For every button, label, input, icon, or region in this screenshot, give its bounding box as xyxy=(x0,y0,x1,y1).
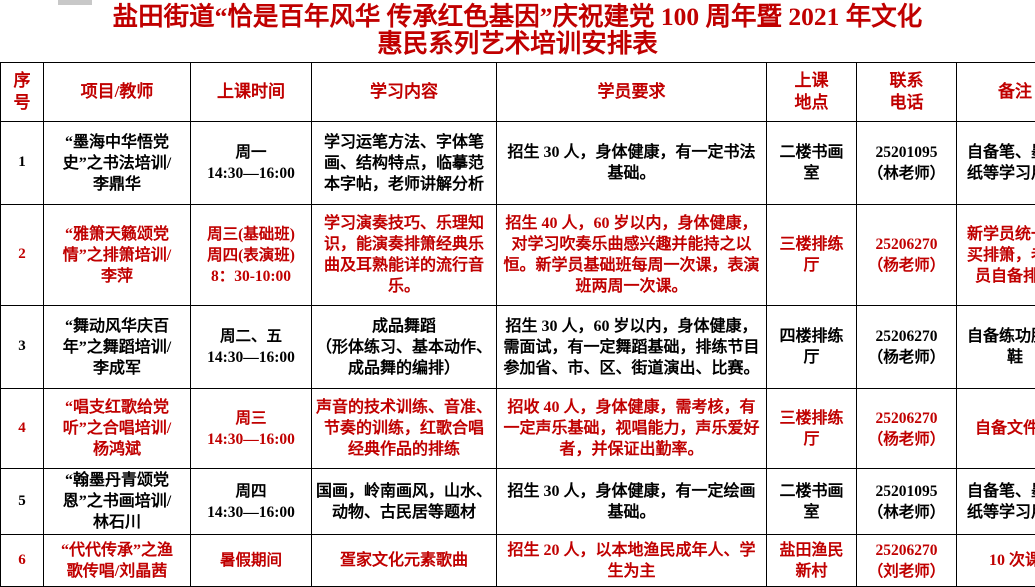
cell-requirement-line-3: 参加省、市、区、街道演出、比赛。 xyxy=(499,358,764,379)
cell-project-line-3: 李鼎华 xyxy=(46,174,188,195)
cell-phone-line-2: （杨老师） xyxy=(859,429,954,450)
cell-phone-line-1: 25206270 xyxy=(859,540,954,561)
cell-time-line-1: 暑假期间 xyxy=(193,550,309,571)
table-header-row: 序 号 项目/教师 上课时间 学习内容 学员要求 上课 地点 联系 电话 备注 xyxy=(1,63,1035,122)
cell-content: 声音的技术训练、音准、 节奏的训练，红歌合唱 经典作品的排练 xyxy=(312,389,497,469)
cell-content: 疍家文化元素歌曲 xyxy=(312,535,497,587)
cell-requirement-line-1: 招生 20 人，以本地渔民成年人、学 xyxy=(499,540,764,561)
column-header-place: 上课 地点 xyxy=(767,63,857,122)
cell-phone: 25201095 （林老师） xyxy=(857,122,957,205)
column-header-time: 上课时间 xyxy=(191,63,312,122)
table-row: 3 “舞动风华庆百 年”之舞蹈培训/ 李成军 周二、五 14:30—16:00 … xyxy=(1,306,1035,389)
cell-note-line-2: 买排箫，老学 xyxy=(959,245,1035,266)
cell-requirement: 招生 20 人，以本地渔民成年人、学 生为主 xyxy=(497,535,767,587)
column-header-requirement: 学员要求 xyxy=(497,63,767,122)
cell-time: 周四 14:30—16:00 xyxy=(191,469,312,535)
cell-place: 二楼书画 室 xyxy=(767,122,857,205)
table-row: 5 “翰墨丹青颂党 恩”之书画培训/ 林石川 周四 14:30—16:00 国画… xyxy=(1,469,1035,535)
cell-content-line-1: 国画，岭南画风，山水、 xyxy=(314,481,494,502)
document-page: 盐田街道“恰是百年风华 传承红色基因”庆祝建党 100 周年暨 2021 年文化… xyxy=(0,0,1035,586)
cell-content-line-1: 成品舞蹈 xyxy=(314,316,494,337)
cell-phone-line-1: 25201095 xyxy=(859,481,954,502)
cell-project: “舞动风华庆百 年”之舞蹈培训/ 李成军 xyxy=(44,306,191,389)
cell-content-line-3: 成品舞的编排） xyxy=(314,358,494,379)
cell-time-line-2: 14:30—16:00 xyxy=(193,429,309,450)
cell-phone-line-1: 25206270 xyxy=(859,234,954,255)
cell-content: 成品舞蹈 （形体练习、基本动作、 成品舞的编排） xyxy=(312,306,497,389)
cell-content-line-3: 经典作品的排练 xyxy=(314,439,494,460)
column-header-note: 备注 xyxy=(957,63,1035,122)
cell-time: 周一 14:30—16:00 xyxy=(191,122,312,205)
cell-place-line-2: 室 xyxy=(769,163,854,184)
cell-project-line-2: 歌传唱/刘晶茜 xyxy=(46,561,188,582)
cell-note-line-2: 鞋 xyxy=(959,347,1035,368)
page-title-line-1: 盐田街道“恰是百年风华 传承红色基因”庆祝建党 100 周年暨 2021 年文化 xyxy=(113,2,923,31)
cell-content-line-1: 疍家文化元素歌曲 xyxy=(314,550,494,571)
selection-mark xyxy=(58,0,92,5)
column-header-place-line-1: 上课 xyxy=(769,70,854,92)
column-header-phone-line-2: 电话 xyxy=(859,92,954,114)
cell-project-line-1: “唱支红歌给党 xyxy=(46,397,188,418)
cell-phone-line-1: 25206270 xyxy=(859,408,954,429)
training-schedule-table: 序 号 项目/教师 上课时间 学习内容 学员要求 上课 地点 联系 电话 备注 xyxy=(0,62,1035,587)
cell-time-line-2: 14:30—16:00 xyxy=(193,502,309,523)
cell-requirement-line-1: 招生 30 人，身体健康，有一定书法 xyxy=(499,142,764,163)
cell-phone-line-2: （杨老师） xyxy=(859,347,954,368)
cell-phone-line-1: 25206270 xyxy=(859,326,954,347)
cell-note-line-1: 自备笔、墨、 xyxy=(959,142,1035,163)
cell-note-line-1: 10 次课 xyxy=(959,550,1035,571)
cell-phone: 25206270 （杨老师） xyxy=(857,389,957,469)
cell-requirement-line-2: 对学习吹奏乐曲感兴趣并能持之以 xyxy=(499,234,764,255)
cell-requirement-line-3: 恒。新学员基础班每周一次课，表演 xyxy=(499,255,764,276)
cell-note: 10 次课 xyxy=(957,535,1035,587)
cell-requirement-line-1: 招收 40 人，身体健康，需考核，有 xyxy=(499,397,764,418)
column-header-index-line-2: 号 xyxy=(3,92,41,114)
cell-time-line-1: 周三 xyxy=(193,408,309,429)
cell-project-line-2: 听”之合唱培训/ xyxy=(46,418,188,439)
cell-content: 学习运笔方法、字体笔 画、结构特点，临摹范 本字帖，老师讲解分析 xyxy=(312,122,497,205)
cell-index: 6 xyxy=(1,535,44,587)
cell-note-line-3: 员自备排箫 xyxy=(959,266,1035,287)
cell-phone-line-2: （刘老师） xyxy=(859,561,954,582)
cell-project-line-1: “雅箫天籁颂党 xyxy=(46,224,188,245)
cell-requirement-line-1: 招生 40 人，60 岁以内，身体健康， xyxy=(499,213,764,234)
cell-note: 自备笔、墨、 纸等学习用具 xyxy=(957,469,1035,535)
cell-place-line-2: 新村 xyxy=(769,561,854,582)
column-header-project: 项目/教师 xyxy=(44,63,191,122)
cell-requirement: 招收 40 人，身体健康，需考核，有 一定声乐基础，视唱能力，声乐爱好 者，并保… xyxy=(497,389,767,469)
cell-project-line-1: “代代传承”之渔 xyxy=(46,540,188,561)
cell-project: “代代传承”之渔 歌传唱/刘晶茜 xyxy=(44,535,191,587)
cell-project-line-1: “舞动风华庆百 xyxy=(46,316,188,337)
cell-note-line-1: 自备练功服、 xyxy=(959,326,1035,347)
cell-requirement-line-1: 招生 30 人，60 岁以内，身体健康， xyxy=(499,316,764,337)
cell-content-line-3: 本字帖，老师讲解分析 xyxy=(314,174,494,195)
cell-place-line-1: 四楼排练 xyxy=(769,326,854,347)
cell-note: 自备练功服、 鞋 xyxy=(957,306,1035,389)
cell-requirement-line-2: 基础。 xyxy=(499,163,764,184)
cell-content-line-1: 学习运笔方法、字体笔 xyxy=(314,132,494,153)
cell-phone: 25206270 （杨老师） xyxy=(857,205,957,306)
cell-requirement: 招生 30 人，身体健康，有一定绘画 基础。 xyxy=(497,469,767,535)
cell-requirement-line-2: 需面试，有一定舞蹈基础，排练节目 xyxy=(499,337,764,358)
cell-note-line-1: 新学员统一购 xyxy=(959,224,1035,245)
cell-index: 3 xyxy=(1,306,44,389)
cell-place: 二楼书画 室 xyxy=(767,469,857,535)
cell-place-line-1: 三楼排练 xyxy=(769,408,854,429)
cell-place-line-2: 厅 xyxy=(769,429,854,450)
column-header-place-line-2: 地点 xyxy=(769,92,854,114)
cell-content-line-1: 学习演奏技巧、乐理知 xyxy=(314,213,494,234)
table-row: 2 “雅箫天籁颂党 情”之排箫培训/ 李萍 周三(基础班) 周四(表演班) 8：… xyxy=(1,205,1035,306)
cell-phone: 25201095 （林老师） xyxy=(857,469,957,535)
table-body: 1 “墨海中华悟党 史”之书法培训/ 李鼎华 周一 14:30—16:00 学习… xyxy=(1,122,1035,587)
column-header-phone-line-1: 联系 xyxy=(859,70,954,92)
cell-place: 三楼排练 厅 xyxy=(767,389,857,469)
cell-phone-line-2: （杨老师） xyxy=(859,255,954,276)
cell-place-line-2: 厅 xyxy=(769,347,854,368)
cell-content-line-3: 曲及耳熟能详的流行音 xyxy=(314,255,494,276)
cell-requirement-line-2: 一定声乐基础，视唱能力，声乐爱好 xyxy=(499,418,764,439)
cell-time-line-2: 14:30—16:00 xyxy=(193,163,309,184)
cell-requirement: 招生 40 人，60 岁以内，身体健康， 对学习吹奏乐曲感兴趣并能持之以 恒。新… xyxy=(497,205,767,306)
cell-project-line-1: “翰墨丹青颂党 xyxy=(46,470,188,491)
cell-time-line-2: 14:30—16:00 xyxy=(193,347,309,368)
cell-time-line-1: 周二、五 xyxy=(193,326,309,347)
cell-time: 周二、五 14:30—16:00 xyxy=(191,306,312,389)
cell-requirement-line-3: 者，并保证出勤率。 xyxy=(499,439,764,460)
cell-project-line-2: 史”之书法培训/ xyxy=(46,153,188,174)
cell-index: 4 xyxy=(1,389,44,469)
cell-place-line-1: 二楼书画 xyxy=(769,481,854,502)
cell-index: 5 xyxy=(1,469,44,535)
cell-place-line-2: 厅 xyxy=(769,255,854,276)
cell-phone: 25206270 （杨老师） xyxy=(857,306,957,389)
column-header-phone: 联系 电话 xyxy=(857,63,957,122)
cell-content-line-1: 声音的技术训练、音准、 xyxy=(314,397,494,418)
cell-time-line-1: 周四 xyxy=(193,481,309,502)
cell-project: “雅箫天籁颂党 情”之排箫培训/ 李萍 xyxy=(44,205,191,306)
column-header-content: 学习内容 xyxy=(312,63,497,122)
cell-content-line-2: 节奏的训练，红歌合唱 xyxy=(314,418,494,439)
page-title: 盐田街道“恰是百年风华 传承红色基因”庆祝建党 100 周年暨 2021 年文化… xyxy=(18,0,1018,57)
cell-index: 1 xyxy=(1,122,44,205)
cell-time-line-1: 周一 xyxy=(193,142,309,163)
cell-project-line-1: “墨海中华悟党 xyxy=(46,132,188,153)
cell-phone-line-2: （林老师） xyxy=(859,163,954,184)
cell-place: 三楼排练 厅 xyxy=(767,205,857,306)
cell-requirement: 招生 30 人，60 岁以内，身体健康， 需面试，有一定舞蹈基础，排练节目 参加… xyxy=(497,306,767,389)
cell-requirement-line-1: 招生 30 人，身体健康，有一定绘画 xyxy=(499,481,764,502)
table-row: 6 “代代传承”之渔 歌传唱/刘晶茜 暑假期间 疍家文化元素歌曲 招生 20 人… xyxy=(1,535,1035,587)
cell-phone-line-2: （林老师） xyxy=(859,502,954,523)
cell-place-line-2: 室 xyxy=(769,502,854,523)
cell-note: 自备笔、墨、 纸等学习用具 xyxy=(957,122,1035,205)
cell-time-line-1: 周三(基础班) xyxy=(193,224,309,245)
cell-project-line-3: 李成军 xyxy=(46,358,188,379)
cell-requirement-line-2: 基础。 xyxy=(499,502,764,523)
cell-note-line-1: 自备笔、墨、 xyxy=(959,481,1035,502)
cell-note-line-2: 纸等学习用具 xyxy=(959,502,1035,523)
table-row: 1 “墨海中华悟党 史”之书法培训/ 李鼎华 周一 14:30—16:00 学习… xyxy=(1,122,1035,205)
cell-place-line-1: 二楼书画 xyxy=(769,142,854,163)
cell-content: 国画，岭南画风，山水、 动物、古民居等题材 xyxy=(312,469,497,535)
cell-project-line-2: 年”之舞蹈培训/ xyxy=(46,337,188,358)
cell-content-line-2: 识，能演奏排箫经典乐 xyxy=(314,234,494,255)
cell-time: 暑假期间 xyxy=(191,535,312,587)
cell-place-line-1: 盐田渔民 xyxy=(769,540,854,561)
column-header-index: 序 号 xyxy=(1,63,44,122)
cell-project: “墨海中华悟党 史”之书法培训/ 李鼎华 xyxy=(44,122,191,205)
cell-note: 新学员统一购 买排箫，老学 员自备排箫 xyxy=(957,205,1035,306)
cell-content: 学习演奏技巧、乐理知 识，能演奏排箫经典乐 曲及耳熟能详的流行音 乐。 xyxy=(312,205,497,306)
cell-phone-line-1: 25201095 xyxy=(859,142,954,163)
cell-note-line-2: 纸等学习用具 xyxy=(959,163,1035,184)
cell-time-line-3: 8：30-10:00 xyxy=(193,266,309,287)
cell-content-line-4: 乐。 xyxy=(314,276,494,297)
cell-project-line-2: 恩”之书画培训/ xyxy=(46,491,188,512)
cell-place: 四楼排练 厅 xyxy=(767,306,857,389)
cell-project: “翰墨丹青颂党 恩”之书画培训/ 林石川 xyxy=(44,469,191,535)
cell-phone: 25206270 （刘老师） xyxy=(857,535,957,587)
cell-content-line-2: （形体练习、基本动作、 xyxy=(314,337,494,358)
column-header-index-line-1: 序 xyxy=(3,70,41,92)
cell-note-line-1: 自备文件夹 xyxy=(959,418,1035,439)
cell-requirement: 招生 30 人，身体健康，有一定书法 基础。 xyxy=(497,122,767,205)
cell-project: “唱支红歌给党 听”之合唱培训/ 杨鸿斌 xyxy=(44,389,191,469)
cell-requirement-line-4: 班两周一次课。 xyxy=(499,276,764,297)
cell-requirement-line-2: 生为主 xyxy=(499,561,764,582)
cell-note: 自备文件夹 xyxy=(957,389,1035,469)
cell-time: 周三 14:30—16:00 xyxy=(191,389,312,469)
page-title-line-2: 惠民系列艺术培训安排表 xyxy=(18,30,1018,57)
cell-time: 周三(基础班) 周四(表演班) 8：30-10:00 xyxy=(191,205,312,306)
cell-content-line-2: 画、结构特点，临摹范 xyxy=(314,153,494,174)
cell-place-line-1: 三楼排练 xyxy=(769,234,854,255)
table-row: 4 “唱支红歌给党 听”之合唱培训/ 杨鸿斌 周三 14:30—16:00 声音… xyxy=(1,389,1035,469)
cell-place: 盐田渔民 新村 xyxy=(767,535,857,587)
cell-index: 2 xyxy=(1,205,44,306)
cell-project-line-3: 李萍 xyxy=(46,266,188,287)
cell-project-line-3: 林石川 xyxy=(46,512,188,533)
cell-project-line-3: 杨鸿斌 xyxy=(46,439,188,460)
cell-project-line-2: 情”之排箫培训/ xyxy=(46,245,188,266)
cell-content-line-2: 动物、古民居等题材 xyxy=(314,502,494,523)
cell-time-line-2: 周四(表演班) xyxy=(193,245,309,266)
table-header: 序 号 项目/教师 上课时间 学习内容 学员要求 上课 地点 联系 电话 备注 xyxy=(1,63,1035,122)
